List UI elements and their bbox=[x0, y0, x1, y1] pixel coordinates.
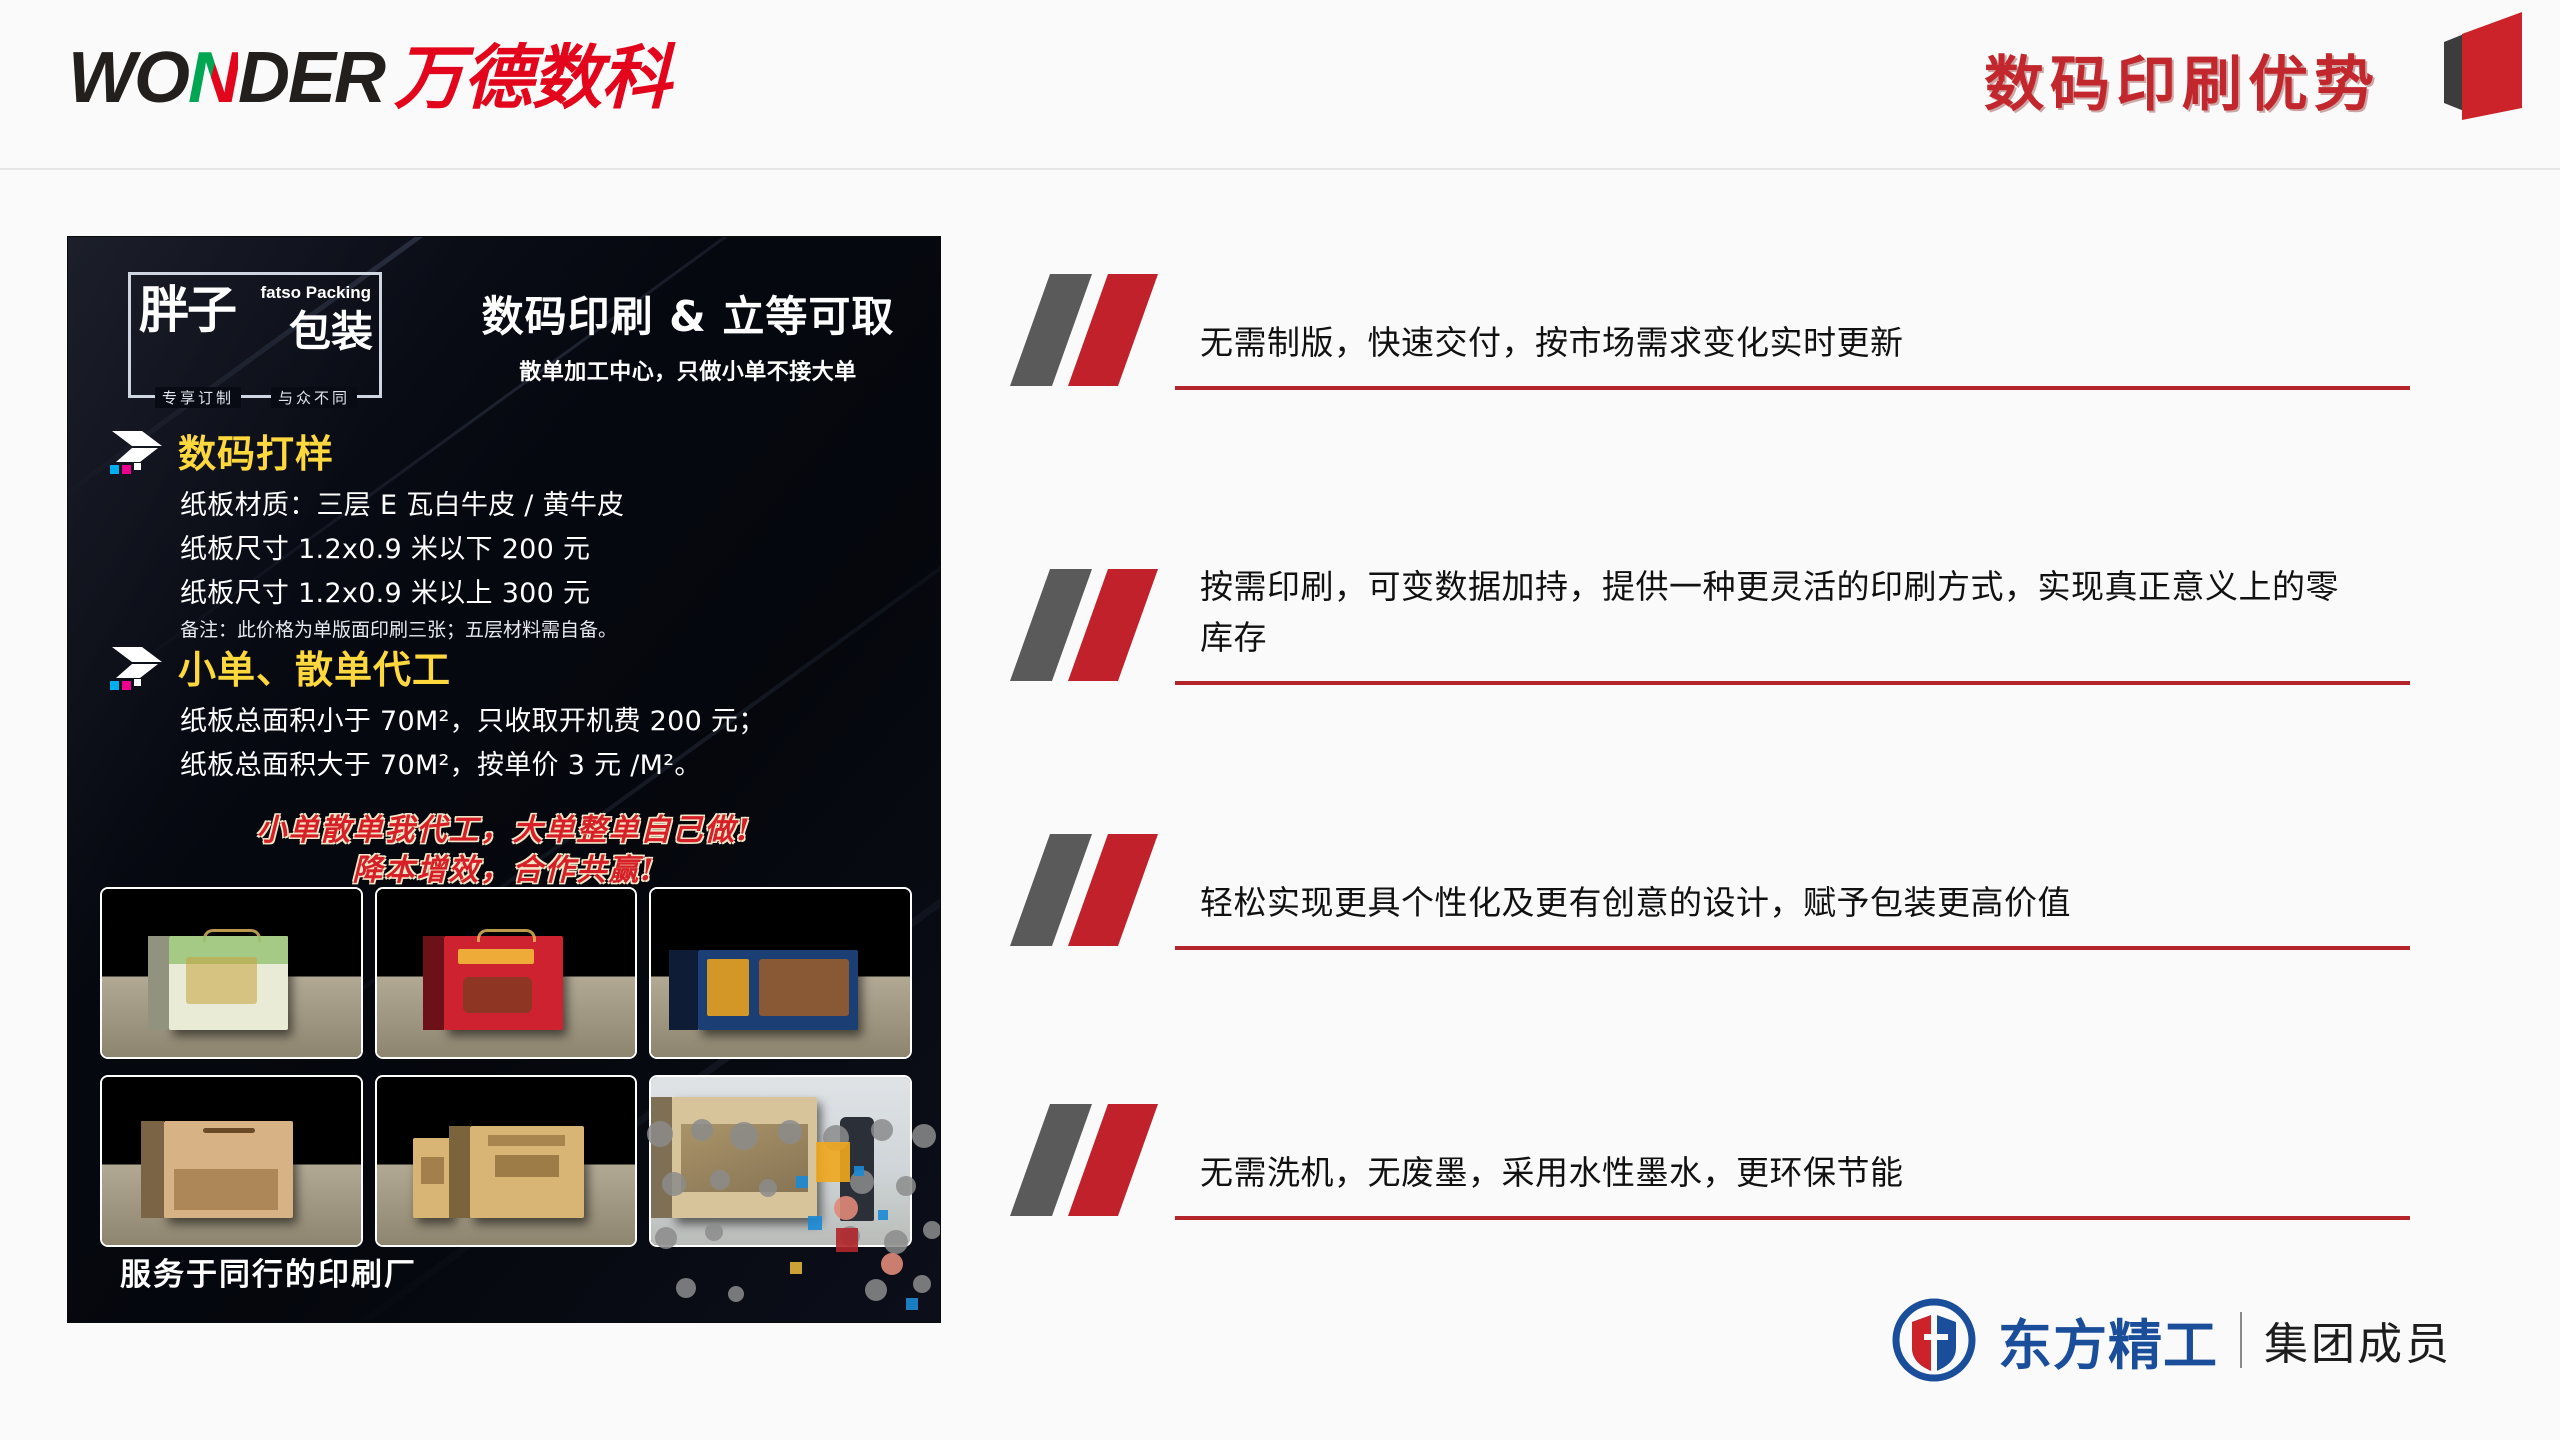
advantage-item-1: 无需制版，快速交付，按市场需求变化实时更新 bbox=[1010, 260, 2410, 390]
poster-slogan-line-2: 降本增效，合作共赢! bbox=[68, 845, 940, 889]
poster-section-2-line-2: 纸板总面积大于 70M²，按单价 3 元 /M²。 bbox=[180, 743, 702, 782]
poster-section-title-1: 数码打样 bbox=[178, 423, 334, 478]
poster-section-1-line-3: 纸板尺寸 1.2x0.9 米以上 300 元 bbox=[180, 571, 590, 610]
box-art-scene bbox=[174, 1169, 277, 1210]
dongfang-jinggong-emblem-icon bbox=[1892, 1298, 1976, 1382]
box-face bbox=[698, 950, 858, 1031]
group-member-label: 集团成员 bbox=[2264, 1308, 2452, 1372]
advantage-text-3: 轻松实现更具个性化及更有创意的设计，赋予包装更高价值 bbox=[1200, 877, 2370, 928]
advantage-item-3: 轻松实现更具个性化及更有创意的设计，赋予包装更高价值 bbox=[1010, 820, 2410, 950]
box-side bbox=[669, 950, 698, 1031]
poster-headline: 数码印刷 & 立等可取 bbox=[468, 283, 908, 344]
poster-section-title-2: 小单、散单代工 bbox=[178, 639, 451, 694]
box-art-header bbox=[488, 1135, 565, 1146]
fatso-logo-tag-right: 与众不同 bbox=[271, 387, 357, 408]
halftone-dot-pattern bbox=[640, 1112, 940, 1322]
double-slash-marker-icon bbox=[1010, 270, 1180, 390]
group-member-logo: 东方精工 集团成员 bbox=[1892, 1298, 2452, 1382]
group-company-name: 东方精工 bbox=[1998, 1301, 2218, 1380]
wordmark-letter-n: N bbox=[188, 42, 238, 114]
product-photo-honey-gift-box bbox=[100, 887, 363, 1059]
box-art-right bbox=[759, 959, 849, 1015]
product-photo-kraft-handle-box bbox=[100, 1075, 363, 1247]
box-side bbox=[148, 936, 169, 1030]
promo-poster-image: 胖子 fatso Packing 包装 专享订制 与众不同 数码印刷 & 立等可… bbox=[68, 237, 940, 1322]
product-photo-red-gift-box bbox=[375, 887, 638, 1059]
advantage-underline-2 bbox=[1175, 681, 2410, 685]
product-photo-classic-gold-box-set bbox=[375, 1075, 638, 1247]
double-slash-marker-icon bbox=[1010, 565, 1180, 685]
box-side bbox=[423, 936, 444, 1030]
poster-slogan-line-1: 小单散单我代工，大单整单自己做! bbox=[68, 805, 940, 849]
poster-headline-block: 数码印刷 & 立等可取 散单加工中心，只做小单不接大单 bbox=[468, 283, 908, 386]
corner-decoration-icon bbox=[2428, 0, 2538, 125]
box-face bbox=[444, 936, 563, 1030]
poster-section-2-line-1: 纸板总面积小于 70M²，只收取开机费 200 元； bbox=[180, 699, 766, 738]
page-title: 数码印刷优势 bbox=[1984, 36, 2380, 123]
box-art-motif bbox=[186, 957, 257, 1004]
poster-section-1-line-2: 纸板尺寸 1.2x0.9 米以下 200 元 bbox=[180, 527, 590, 566]
fatso-logo-tag-left: 专享订制 bbox=[155, 387, 241, 408]
poster-section-1-line-1: 纸板材质：三层 E 瓦白牛皮 / 黄牛皮 bbox=[180, 483, 625, 522]
box-face bbox=[164, 1121, 293, 1218]
advantage-underline-1 bbox=[1175, 386, 2410, 390]
fatso-logo-cn: 胖子 bbox=[139, 285, 235, 335]
wonder-wordmark: WONDER bbox=[68, 42, 384, 114]
poster-subheadline: 散单加工中心，只做小单不接大单 bbox=[468, 354, 908, 386]
header-divider bbox=[0, 168, 2560, 170]
wordmark-part-1: WO bbox=[68, 42, 188, 114]
box-art-left bbox=[707, 959, 749, 1015]
chevron-arrow-icon bbox=[108, 429, 166, 475]
fatso-logo-en: fatso Packing bbox=[260, 283, 371, 303]
poster-footer-text: 服务于同行的印刷厂 bbox=[120, 1249, 417, 1294]
box-face-small bbox=[413, 1138, 452, 1219]
footer-divider bbox=[2240, 1312, 2242, 1368]
box-face bbox=[470, 1126, 584, 1218]
double-slash-marker-icon bbox=[1010, 830, 1180, 950]
box-art-center bbox=[495, 1155, 559, 1177]
wordmark-part-2: DER bbox=[238, 42, 384, 114]
box-art-photo bbox=[463, 977, 532, 1013]
fatso-logo-cn2: 包装 bbox=[289, 311, 373, 353]
box-side bbox=[449, 1126, 469, 1218]
slide-header: WONDER 万德数科 数码印刷优势 bbox=[0, 0, 2560, 172]
wonder-logo-chinese: 万德数科 bbox=[394, 43, 670, 113]
box-handle bbox=[477, 929, 535, 942]
box-art-small bbox=[421, 1157, 444, 1184]
slide-canvas: WONDER 万德数科 数码印刷优势 胖子 fatso Packing 包装 专… bbox=[0, 0, 2560, 1440]
advantage-underline-4 bbox=[1175, 1216, 2410, 1220]
box-art-title bbox=[458, 949, 534, 964]
advantage-text-4: 无需洗机，无废墨，采用水性墨水，更环保节能 bbox=[1200, 1147, 2370, 1198]
double-slash-marker-icon bbox=[1010, 1100, 1180, 1220]
advantage-item-2: 按需印刷，可变数据加持，提供一种更灵活的印刷方式，实现真正意义上的零库存 bbox=[1010, 510, 2410, 685]
box-face bbox=[169, 936, 288, 1030]
chevron-arrow-icon-2 bbox=[108, 645, 166, 691]
poster-section-1-note: 备注：此价格为单版面印刷三张；五层材料需自备。 bbox=[180, 615, 617, 642]
wonder-logo: WONDER 万德数科 bbox=[68, 42, 670, 114]
advantage-text-2: 按需印刷，可变数据加持，提供一种更灵活的印刷方式，实现真正意义上的零库存 bbox=[1200, 561, 2370, 663]
advantage-underline-3 bbox=[1175, 946, 2410, 950]
advantage-item-4: 无需洗机，无废墨，采用水性墨水，更环保节能 bbox=[1010, 1090, 2410, 1220]
box-die-cut-handle bbox=[203, 1128, 255, 1133]
fatso-packing-logo: 胖子 fatso Packing 包装 专享订制 与众不同 bbox=[128, 272, 382, 398]
product-photo-blue-beef-box bbox=[649, 887, 912, 1059]
advantage-text-1: 无需制版，快速交付，按市场需求变化实时更新 bbox=[1200, 317, 2370, 368]
box-side bbox=[141, 1121, 164, 1218]
